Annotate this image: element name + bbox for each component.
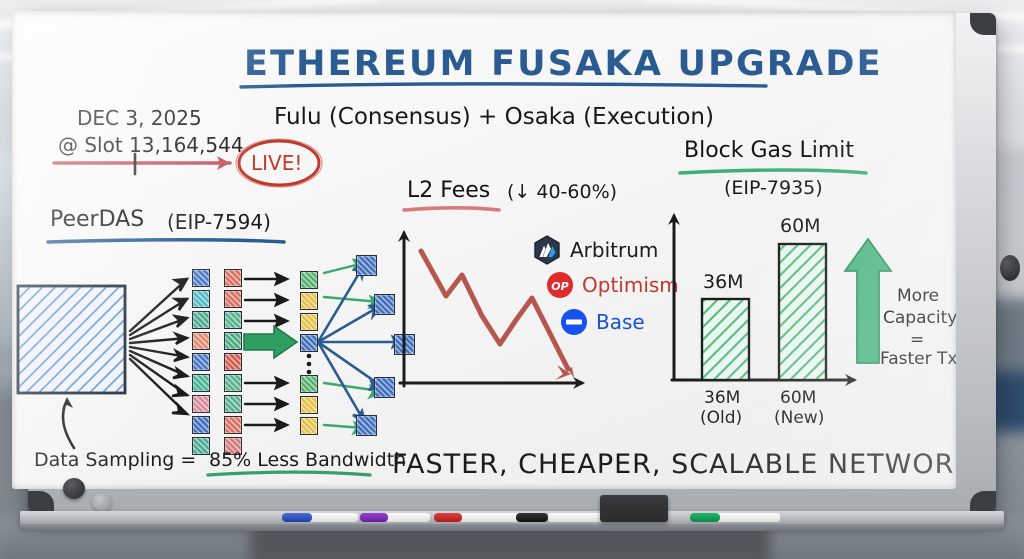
frame-corner-bottom-right — [970, 491, 996, 513]
tagline: FASTER, CHEAPER, SCALABLE NETWORK — [392, 449, 956, 480]
gas-annotation-line-3: = — [910, 330, 924, 350]
red-marker-body[interactable] — [452, 513, 522, 522]
gas-bar-value-1: 36M — [703, 271, 744, 293]
gas-annotation-line-1: More — [897, 286, 939, 306]
growth-arrow — [845, 239, 891, 363]
gas-xlabel-2-note: (New) — [774, 408, 824, 428]
red-marker[interactable] — [434, 513, 462, 522]
gas-xlabel-1-value: 36M — [704, 388, 740, 408]
gas-bar-value-2: 60M — [780, 215, 821, 237]
marker-tray-lip — [20, 524, 1004, 531]
black-marker[interactable] — [516, 513, 548, 522]
magnet-dark[interactable] — [63, 478, 85, 499]
gas-xlabel-2-value: 60M — [780, 388, 816, 408]
gas-annotation-line-4: Faster Tx — [880, 349, 956, 369]
purple-marker[interactable] — [360, 513, 388, 522]
whiteboard-surface: ETHEREUM FUSAKA UPGRADE Fulu (Consensus)… — [12, 11, 956, 489]
table-shadow — [250, 528, 770, 559]
green-marker[interactable] — [690, 513, 720, 522]
magnet-gray[interactable] — [92, 493, 112, 511]
magnet-right[interactable] — [1000, 255, 1020, 281]
gas-annotation-line-2: Capacity — [883, 308, 956, 328]
eraser[interactable] — [600, 495, 668, 522]
gas-xlabel-1-note: (Old) — [700, 408, 742, 428]
whiteboard-scene: ETHEREUM FUSAKA UPGRADE Fulu (Consensus)… — [0, 0, 1024, 559]
green-marker-body[interactable] — [714, 513, 780, 522]
blue-marker[interactable] — [282, 513, 312, 522]
